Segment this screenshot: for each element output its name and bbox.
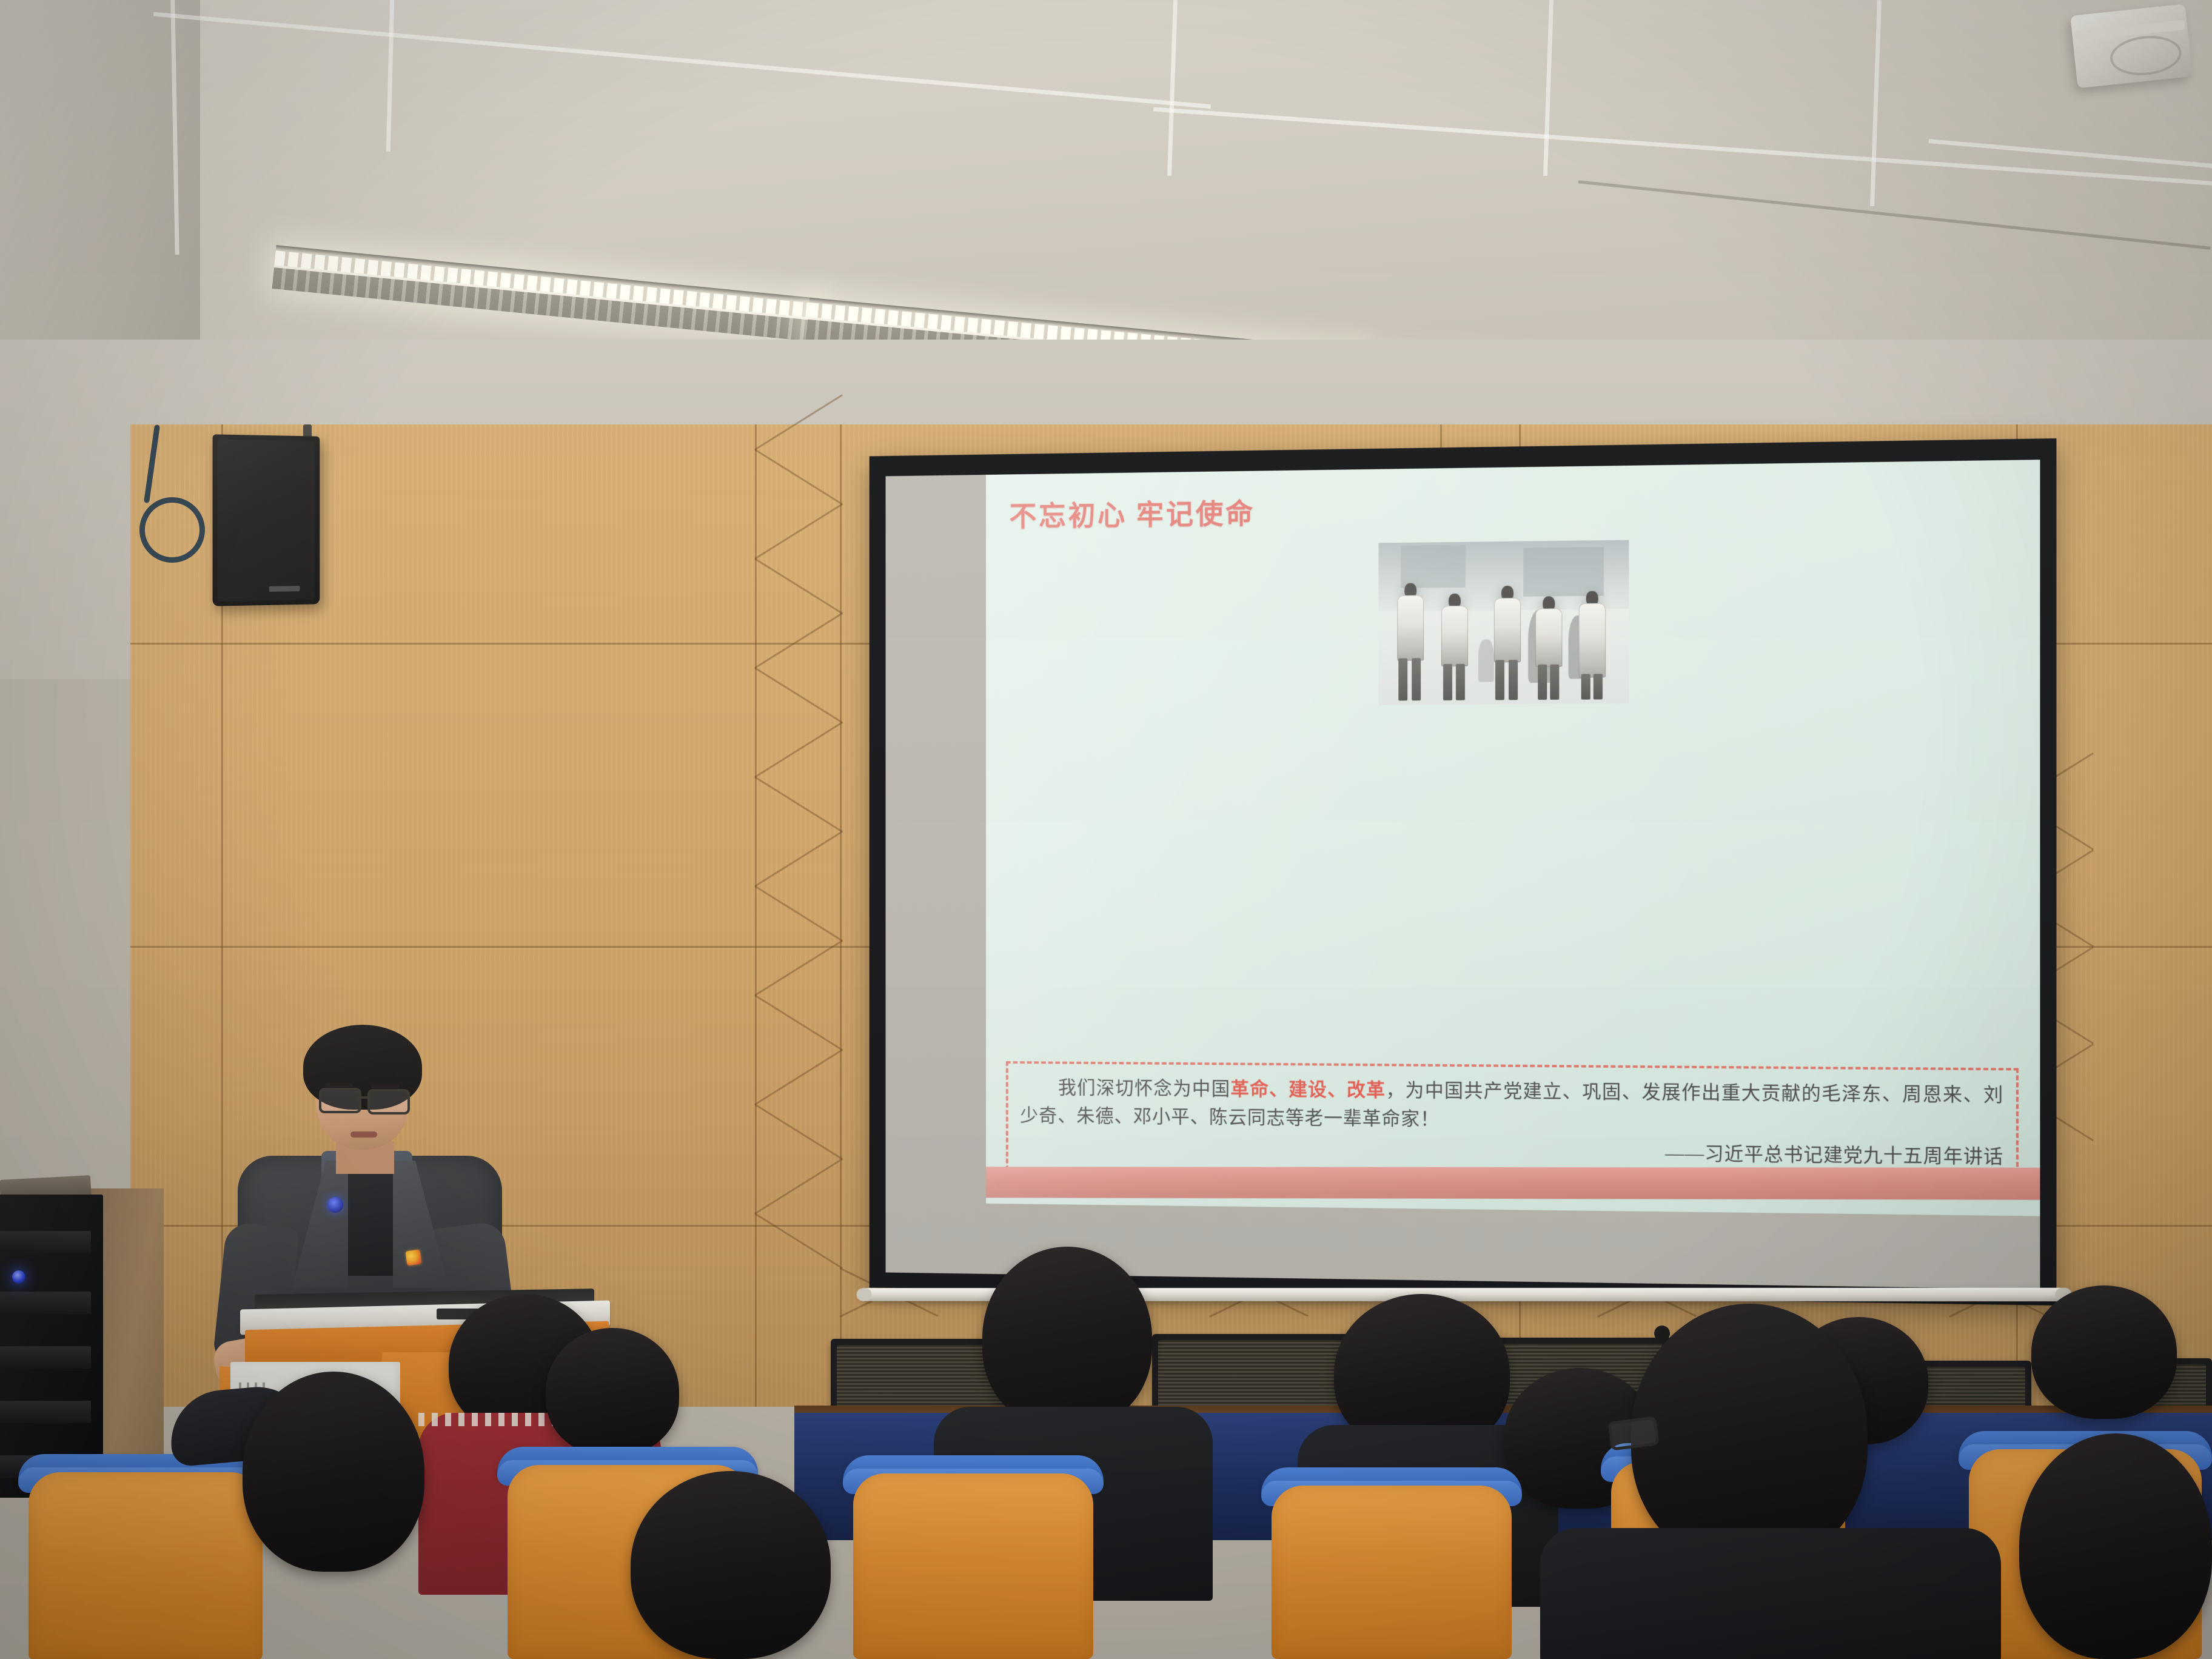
slide-footer-band (986, 1167, 2040, 1200)
eyeglasses-icon (319, 1088, 361, 1113)
auditorium-seat[interactable] (18, 1454, 273, 1659)
audience-head (631, 1471, 831, 1659)
audience-head (2031, 1285, 2177, 1419)
ceiling-speaker-icon (2070, 4, 2193, 88)
presentation-slide: 不忘初心 牢记使命 (986, 460, 2040, 1216)
av-equipment-rack (0, 1195, 103, 1498)
photo-figure (1438, 593, 1471, 701)
photo-figure (1533, 596, 1565, 701)
auditorium-seat[interactable] (843, 1455, 1104, 1659)
quote-attribution: ——习近平总书记建党九十五周年讲话 (1020, 1133, 2003, 1171)
photo-figure (1576, 591, 1609, 700)
panel-seam (755, 424, 757, 1407)
quote-highlight: 革命、建设、改革 (1230, 1078, 1386, 1101)
audience-head (2019, 1433, 2212, 1659)
audience-head (982, 1247, 1152, 1429)
eyeglasses-icon (1607, 1416, 1659, 1450)
eyeglasses-icon (367, 1089, 410, 1114)
clip-microphone-icon (327, 1197, 343, 1213)
auditorium-seat[interactable] (1261, 1467, 1522, 1659)
panel-seam (840, 424, 842, 1407)
presenter-brow (371, 1084, 399, 1088)
audience-head (546, 1328, 679, 1455)
slide-historical-photo (1378, 540, 1629, 705)
audience-head (1631, 1304, 1868, 1564)
audience-shoulders (1540, 1528, 2001, 1659)
eyeglasses-bridge (355, 1096, 369, 1099)
rack-status-led (12, 1270, 25, 1284)
wall-speaker-icon (213, 434, 320, 606)
photo-figure (1393, 583, 1427, 702)
party-emblem-badge (405, 1249, 421, 1265)
lecture-hall-photo: 不忘初心 牢记使命 (0, 0, 2212, 1659)
slide-quote-box: 我们深切怀念为中国革命、建设、改革，为中国共产党建立、巩固、发展作出重大贡献的毛… (1006, 1061, 2019, 1181)
photo-figure (1490, 585, 1524, 701)
screen-surface: 不忘初心 牢记使命 (886, 460, 2040, 1289)
projection-screen: 不忘初心 牢记使命 (870, 438, 2057, 1305)
audience-head (243, 1372, 424, 1572)
quote-part-1: 我们深切怀念为中国 (1020, 1076, 1230, 1099)
presenter-brow (325, 1083, 353, 1087)
presenter-mouth (350, 1131, 377, 1138)
slide-title: 不忘初心 牢记使命 (1010, 491, 1256, 534)
